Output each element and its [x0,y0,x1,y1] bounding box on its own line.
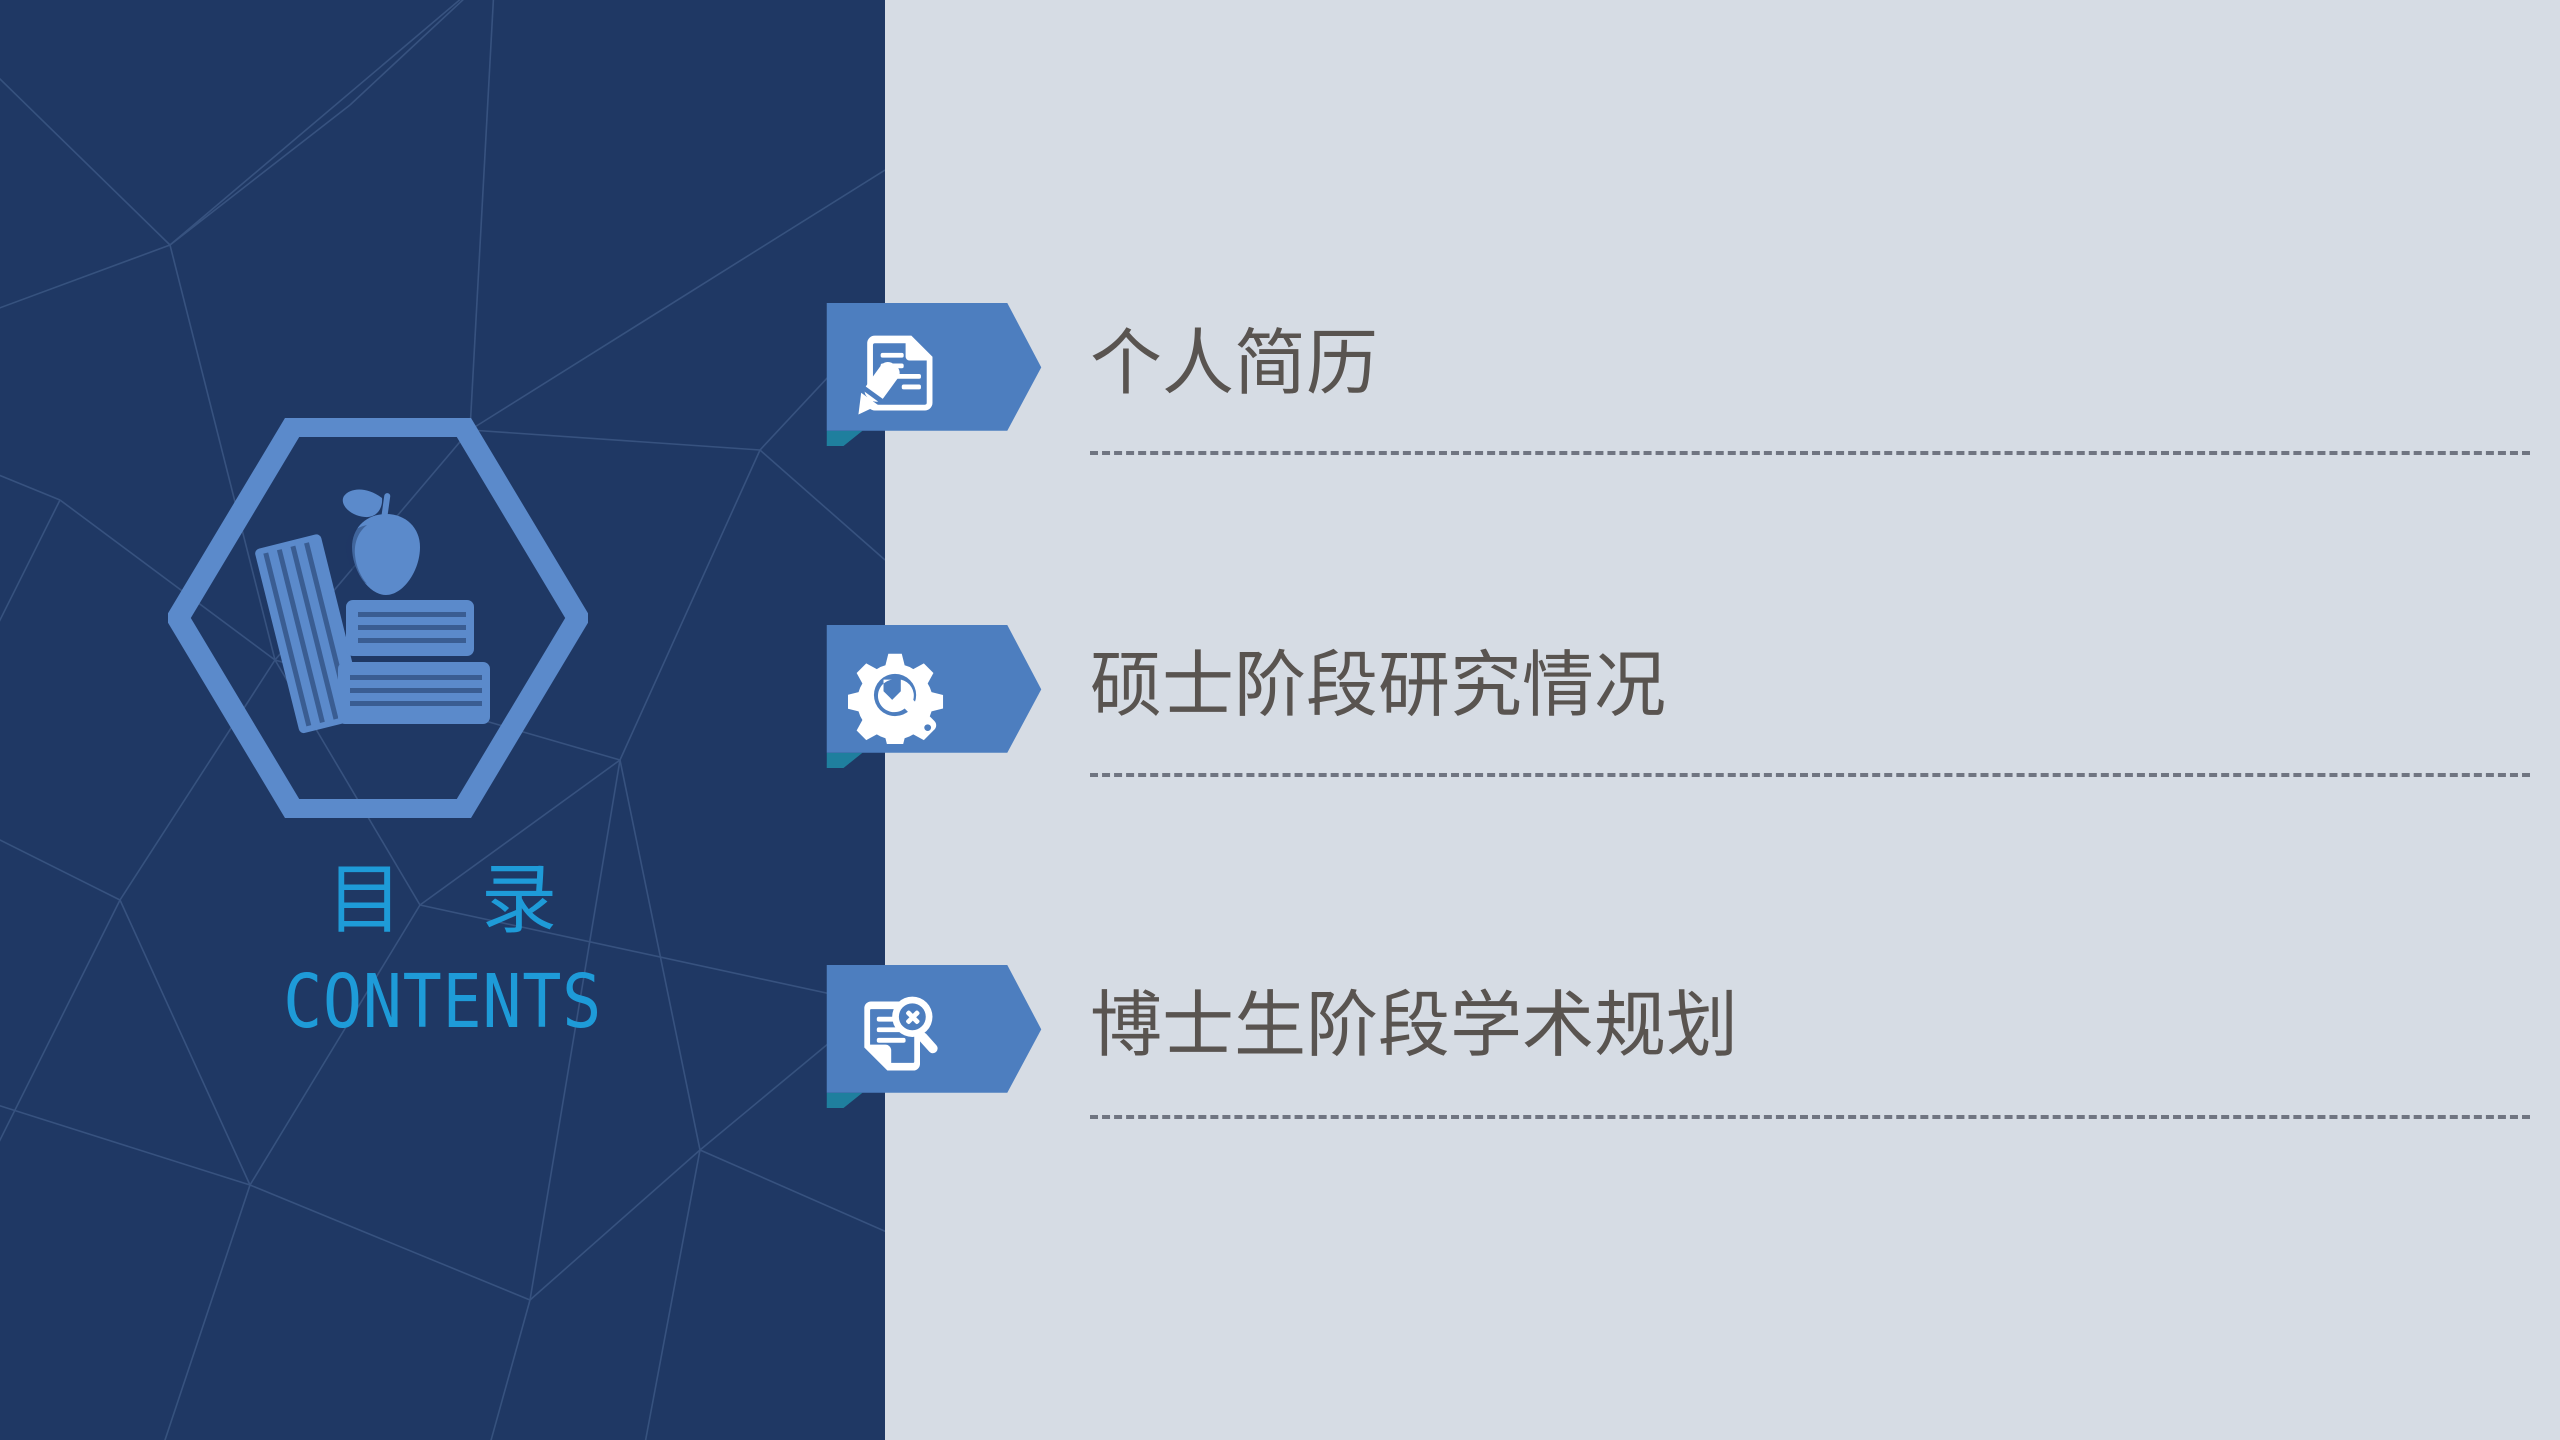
badge-fold-tab [827,753,863,768]
toc-entry-rule [1090,1115,2530,1119]
toc-entry-rule [1090,773,2530,777]
toc-entry-label: 博士生阶段学术规划 [1090,987,1738,1065]
toc-entry-label: 个人简历 [1090,325,1378,403]
books-apple-glyph [254,490,490,735]
badge-fold-tab [827,431,863,446]
hexagon-books-apple-icon [168,418,588,818]
toc-badge[interactable] [814,965,1054,1125]
document-pen-icon [848,326,944,422]
document-magnifier-icon [848,988,944,1084]
toc-entry-label: 硕士阶段研究情况 [1090,647,1666,725]
contents-heading-cn: 目 录 [0,862,885,938]
toc-badge[interactable] [814,303,1054,463]
left-panel: 目 录 CONTENTS [0,0,885,1440]
gear-wrench-icon [848,648,944,744]
badge-fold-tab [827,1093,863,1108]
toc-badge[interactable] [814,625,1054,785]
slide-canvas: 目 录 CONTENTS [0,0,2560,1440]
toc-entry-rule [1090,451,2530,455]
contents-heading-en: CONTENTS [53,965,832,1039]
